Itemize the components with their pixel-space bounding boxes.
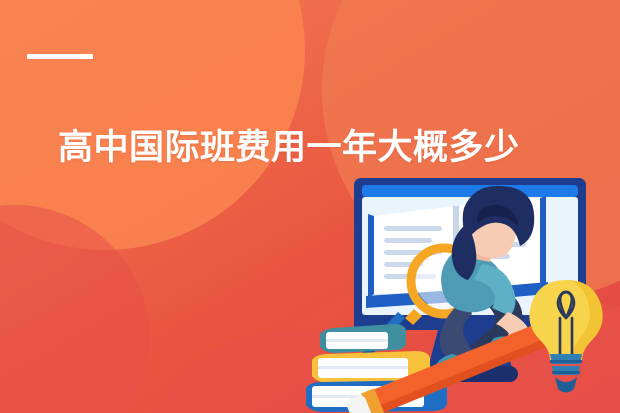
background-blob-top-left — [0, 0, 305, 250]
student-studying-online-illustration — [304, 168, 620, 413]
background-blob-left-lower — [0, 205, 150, 413]
title-accent-rule — [27, 54, 93, 59]
page-title: 高中国际班费用一年大概多少 — [58, 126, 520, 170]
promo-banner: 高中国际班费用一年大概多少 — [0, 0, 620, 413]
lightbulb-icon — [529, 280, 602, 393]
